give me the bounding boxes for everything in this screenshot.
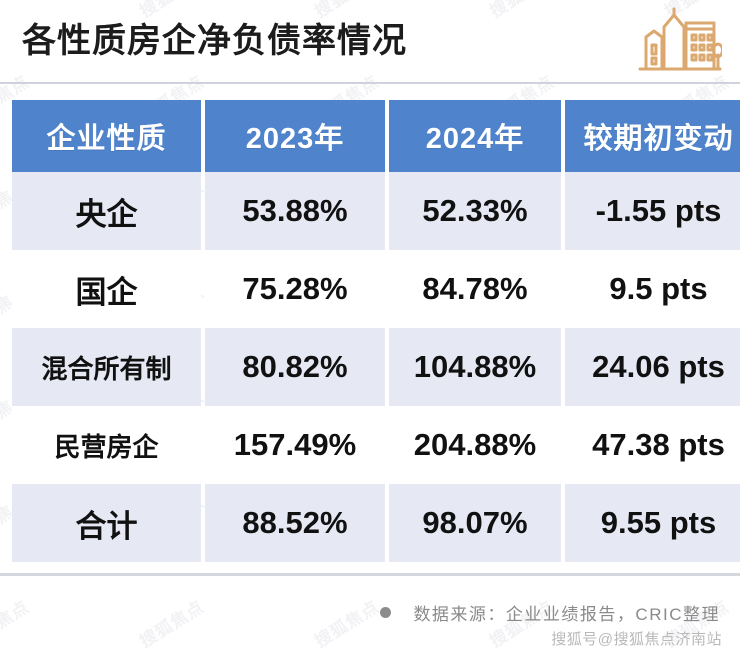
cell-2024: 84.78% xyxy=(389,250,561,328)
cell-change: 9.5 pts xyxy=(565,250,740,328)
net-gearing-table: 企业性质 2023年 2024年 较期初变动 央企 53.88% 52.33% … xyxy=(8,100,740,562)
cell-2024: 204.88% xyxy=(389,406,561,484)
footer: 数据来源：企业业绩报告，CRIC整理 搜狐号@搜狐焦点济南站 xyxy=(0,573,740,651)
table-row: 民营房企 157.49% 204.88% 47.38 pts xyxy=(12,406,740,484)
table: 企业性质 2023年 2024年 较期初变动 央企 53.88% 52.33% … xyxy=(8,100,740,562)
table-row: 国企 75.28% 84.78% 9.5 pts xyxy=(12,250,740,328)
cell-2023: 75.28% xyxy=(205,250,385,328)
cell-change: -1.55 pts xyxy=(565,172,740,250)
cell-2023: 157.49% xyxy=(205,406,385,484)
cell-change: 24.06 pts xyxy=(565,328,740,406)
column-header-2024: 2024年 xyxy=(389,100,561,172)
column-header-2023: 2023年 xyxy=(205,100,385,172)
cell-2024: 52.33% xyxy=(389,172,561,250)
column-header-change: 较期初变动 xyxy=(565,100,740,172)
cell-2023: 88.52% xyxy=(205,484,385,562)
bullet-dot-icon xyxy=(380,607,391,618)
cell-nature: 民营房企 xyxy=(12,406,201,484)
source-text: 数据来源：企业业绩报告，CRIC整理 xyxy=(413,600,720,625)
table-header-row: 企业性质 2023年 2024年 较期初变动 xyxy=(12,100,740,172)
credit-watermark: 搜狐号@搜狐焦点济南站 xyxy=(551,628,722,649)
table-row: 混合所有制 80.82% 104.88% 24.06 pts xyxy=(12,328,740,406)
city-buildings-icon xyxy=(636,7,722,73)
cell-2023: 80.82% xyxy=(205,328,385,406)
header-divider xyxy=(0,82,740,84)
table-row: 央企 53.88% 52.33% -1.55 pts xyxy=(12,172,740,250)
cell-2024: 98.07% xyxy=(389,484,561,562)
cell-nature: 央企 xyxy=(12,172,201,250)
cell-nature: 合计 xyxy=(12,484,201,562)
cell-change: 9.55 pts xyxy=(565,484,740,562)
table-row: 合计 88.52% 98.07% 9.55 pts xyxy=(12,484,740,562)
title-bar: 各性质房企净负债率情况 xyxy=(0,0,740,82)
cell-2023: 53.88% xyxy=(205,172,385,250)
cell-2024: 104.88% xyxy=(389,328,561,406)
cell-nature: 国企 xyxy=(12,250,201,328)
column-header-nature: 企业性质 xyxy=(12,100,201,172)
page-title: 各性质房企净负债率情况 xyxy=(22,24,407,58)
cell-nature: 混合所有制 xyxy=(12,328,201,406)
source-line: 数据来源：企业业绩报告，CRIC整理 xyxy=(380,600,720,625)
cell-change: 47.38 pts xyxy=(565,406,740,484)
